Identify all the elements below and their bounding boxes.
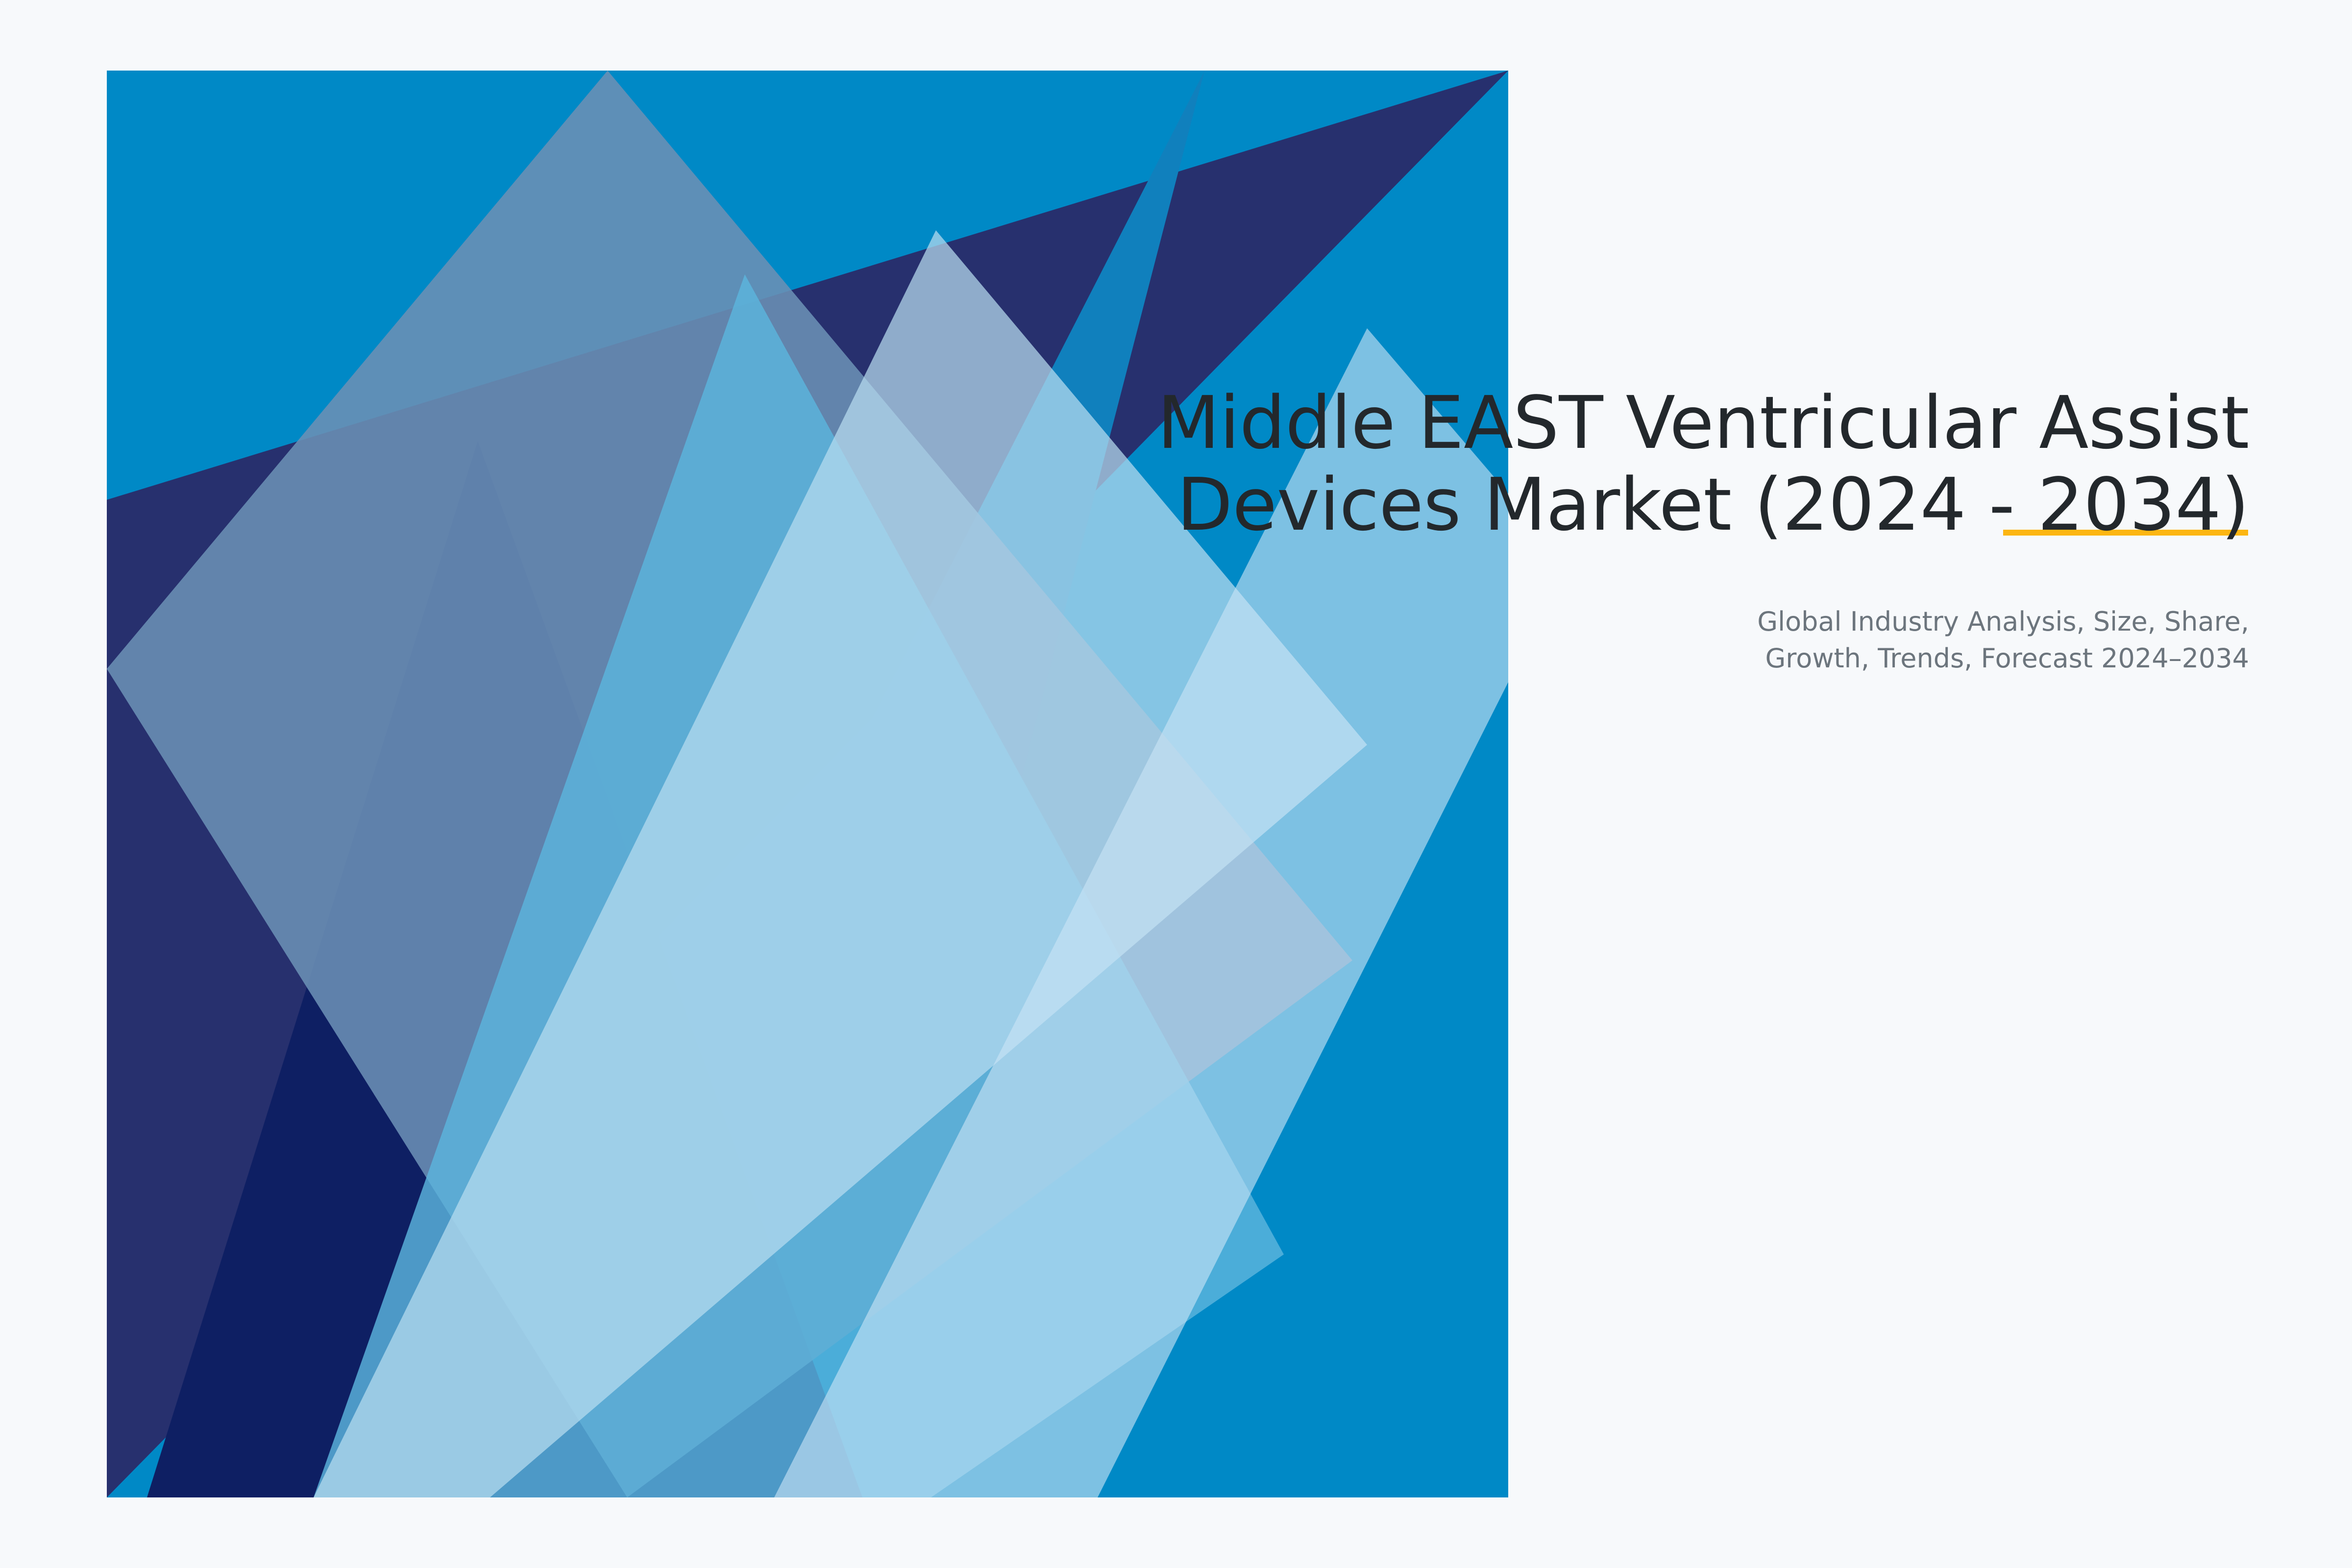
report-cover-page: Middle EAST Ventricular Assist Devices M… bbox=[0, 0, 2352, 1568]
page-title: Middle EAST Ventricular Assist Devices M… bbox=[1127, 382, 2249, 546]
cover-text-block: Middle EAST Ventricular Assist Devices M… bbox=[1127, 382, 2249, 677]
abstract-polygon-graphic bbox=[0, 0, 1568, 1568]
page-subtitle: Global Industry Analysis, Size, Share, G… bbox=[1686, 546, 2249, 677]
